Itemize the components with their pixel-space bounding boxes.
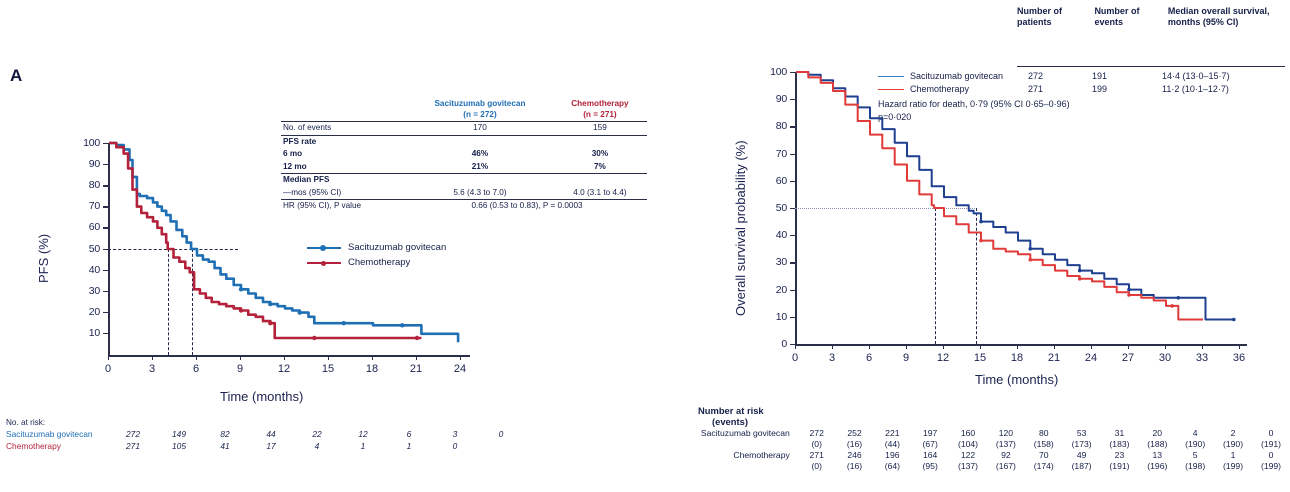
risk-value: 246 [836, 449, 874, 460]
risk-value: 23 [1101, 449, 1139, 460]
risk-events-value: (0) [798, 438, 836, 449]
risk-title-line2-b: (events) [712, 416, 1290, 427]
censor-marker [312, 336, 316, 340]
risk-events-value: (191) [1101, 460, 1139, 471]
legend-swatch-chemotherapy-icon [307, 262, 341, 264]
risk-events-value: (16) [836, 460, 874, 471]
censor-marker [1127, 288, 1131, 292]
risk-events-value: (158) [1025, 438, 1063, 449]
x-tick-label: 27 [1113, 352, 1143, 364]
y-tick-label: 70 [761, 148, 787, 160]
risk-value: 0 [432, 440, 478, 452]
x-tick-label: 12 [269, 363, 299, 375]
risk-value: 0 [478, 428, 524, 440]
stats-col1-n: (n = 272) [463, 110, 496, 119]
risk-value: 1 [386, 440, 432, 452]
risk-events-value: (188) [1138, 438, 1176, 449]
risk-value: 272 [110, 428, 156, 440]
risk-events-value: (44) [873, 438, 911, 449]
risk-events-value: (0) [798, 460, 836, 471]
risk-events-value: (104) [949, 438, 987, 449]
risk-value: 271 [798, 449, 836, 460]
risk-value: 0 [1252, 449, 1290, 460]
risk-value: 12 [340, 428, 386, 440]
x-tick-label: 24 [445, 363, 475, 375]
risk-value: 4 [1176, 427, 1214, 438]
censor-marker [1170, 304, 1174, 308]
y-tick-label: 10 [761, 311, 787, 323]
risk-events-value: (198) [1176, 460, 1214, 471]
panel-a-legend: Sacituzumab govitecan Chemotherapy [307, 240, 446, 270]
y-tick-label: 100 [74, 137, 100, 149]
x-tick-label: 18 [357, 363, 387, 375]
risk-value: 17 [248, 440, 294, 452]
legend-item-chemotherapy-a: Chemotherapy [307, 255, 446, 270]
risk-row: Chemotherapy2712461961641229270492313510 [672, 449, 1290, 460]
legend-swatch-sacituzumab-icon [307, 247, 341, 249]
legend-label-sacituzumab-a: Sacituzumab govitecan [348, 242, 446, 253]
risk-value: 1 [340, 440, 386, 452]
y-tick-label: 30 [761, 256, 787, 268]
risk-value: 5 [1176, 449, 1214, 460]
censor-marker [1029, 258, 1033, 262]
risk-row-label: Chemotherapy [672, 449, 798, 460]
y-tick-label: 60 [761, 175, 787, 187]
censor-marker [415, 336, 419, 340]
censor-marker [979, 220, 983, 224]
risk-row-label: Chemotherapy [6, 440, 110, 452]
risk-events-value: (196) [1138, 460, 1176, 471]
panel-a-risk-table: No. at risk: Sacituzumab govitecan272149… [6, 428, 526, 452]
y-tick-label: 90 [761, 93, 787, 105]
stats-header-median: Median overall survival, months (95% CI) [1168, 6, 1285, 28]
risk-value: 252 [836, 427, 874, 438]
risk-events-value: (190) [1214, 438, 1252, 449]
risk-value: 92 [987, 449, 1025, 460]
risk-row: Sacituzumab govitecan27214982442212630 [6, 428, 524, 440]
y-axis-title-b: Overall survival probability (%) [733, 140, 748, 316]
risk-value: 53 [1063, 427, 1101, 438]
x-tick-label: 6 [854, 352, 884, 364]
risk-events-value: (95) [911, 460, 949, 471]
y-tick-label: 80 [761, 120, 787, 132]
censor-marker [239, 287, 243, 291]
censor-marker [1078, 269, 1082, 273]
risk-row-label: Sacituzumab govitecan [6, 428, 110, 440]
x-tick-label: 30 [1150, 352, 1180, 364]
risk-row-label: Sacituzumab govitecan [672, 427, 798, 438]
risk-value: 271 [110, 440, 156, 452]
censor-marker [400, 323, 404, 327]
risk-value: 164 [911, 449, 949, 460]
x-tick-label: 0 [93, 363, 123, 375]
stats-header-events: Number of events [1094, 6, 1161, 28]
y-tick-label: 70 [74, 200, 100, 212]
risk-value: 160 [949, 427, 987, 438]
risk-row: Sacituzumab govitecan2722522211971601208… [672, 427, 1290, 438]
x-tick-label: 12 [928, 352, 958, 364]
risk-events-value: (173) [1063, 438, 1101, 449]
risk-events-value: (174) [1025, 460, 1063, 471]
risk-value: 1 [1214, 449, 1252, 460]
risk-value: 4 [294, 440, 340, 452]
y-tick-label: 100 [761, 66, 787, 78]
risk-events-value: (137) [949, 460, 987, 471]
risk-events-value: (190) [1176, 438, 1214, 449]
x-tick-label: 3 [137, 363, 167, 375]
x-tick-label: 3 [817, 352, 847, 364]
x-tick-label: 15 [965, 352, 995, 364]
risk-events-row: (0)(16)(64)(95)(137)(167)(174)(187)(191)… [672, 460, 1290, 471]
risk-value: 221 [873, 427, 911, 438]
censor-marker [1127, 293, 1131, 297]
risk-title-line1-b: Number at risk [698, 405, 1290, 416]
risk-value: 105 [156, 440, 202, 452]
risk-events-value: (191) [1252, 438, 1290, 449]
x-tick-label: 24 [1076, 352, 1106, 364]
risk-value: 82 [202, 428, 248, 440]
risk-events-label [672, 460, 798, 471]
risk-value: 149 [156, 428, 202, 440]
censor-marker [979, 239, 983, 243]
censor-marker [268, 302, 272, 306]
censor-marker [298, 310, 302, 314]
survival-curve [796, 72, 1203, 320]
risk-value: 80 [1025, 427, 1063, 438]
stats-col2-name: Chemotherapy [571, 99, 628, 108]
x-axis-title-b: Time (months) [975, 372, 1058, 387]
risk-value: 13 [1138, 449, 1176, 460]
x-tick-label: 36 [1224, 352, 1254, 364]
risk-value: 31 [1101, 427, 1139, 438]
panel-a-progression-free-survival: A Sacituzumab govitecan(n = 272) Chemoth… [0, 0, 660, 492]
risk-value: 22 [294, 428, 340, 440]
risk-value: 3 [432, 428, 478, 440]
y-tick-label: 30 [74, 285, 100, 297]
y-tick-label: 50 [74, 243, 100, 255]
censor-marker [239, 308, 243, 312]
risk-events-value: (187) [1063, 460, 1101, 471]
risk-value: 197 [911, 427, 949, 438]
risk-value: 196 [873, 449, 911, 460]
y-tick-label: 40 [74, 264, 100, 276]
risk-events-value: (183) [1101, 438, 1139, 449]
risk-caption-a: No. at risk: [6, 418, 45, 427]
x-axis-title-a: Time (months) [220, 389, 303, 404]
x-tick-label: 33 [1187, 352, 1217, 364]
risk-events-value: (67) [911, 438, 949, 449]
survival-curve [796, 72, 1234, 320]
y-tick-label: 0 [761, 338, 787, 350]
legend-item-sacituzumab-a: Sacituzumab govitecan [307, 240, 446, 255]
x-tick-label: 9 [225, 363, 255, 375]
risk-value [478, 440, 524, 452]
y-axis-title-a: PFS (%) [36, 234, 51, 283]
risk-value: 122 [949, 449, 987, 460]
risk-events-row: (0)(16)(44)(67)(104)(137)(158)(173)(183)… [672, 438, 1290, 449]
risk-events-value: (167) [987, 460, 1025, 471]
censor-marker [1177, 296, 1181, 300]
risk-events-value: (16) [836, 438, 874, 449]
x-tick-label: 6 [181, 363, 211, 375]
stats-col2-n: (n = 271) [583, 110, 616, 119]
risk-value: 41 [202, 440, 248, 452]
censor-marker [342, 321, 346, 325]
censor-marker [1029, 247, 1033, 251]
risk-value: 0 [1252, 427, 1290, 438]
y-tick-label: 60 [74, 221, 100, 233]
panel-b-plot: 1009080706050403020100 03691215182124273… [795, 72, 1255, 350]
legend-label-chemotherapy-a: Chemotherapy [348, 257, 410, 268]
stats-header-rule-b [1017, 66, 1285, 67]
panel-b-risk-table: Number at risk (events) Sacituzumab govi… [672, 405, 1290, 471]
x-tick-label: 18 [1002, 352, 1032, 364]
y-tick-label: 10 [74, 327, 100, 339]
stats-header-patients: Number of patients [1017, 6, 1088, 28]
risk-value: 2 [1214, 427, 1252, 438]
y-tick-label: 20 [74, 306, 100, 318]
risk-value: 70 [1025, 449, 1063, 460]
risk-value: 120 [987, 427, 1025, 438]
y-tick-label: 20 [761, 284, 787, 296]
risk-events-value: (199) [1214, 460, 1252, 471]
risk-value: 20 [1138, 427, 1176, 438]
x-tick-label: 15 [313, 363, 343, 375]
y-tick-label: 40 [761, 229, 787, 241]
risk-row: Chemotherapy27110541174110 [6, 440, 524, 452]
y-tick-label: 80 [74, 179, 100, 191]
risk-value: 44 [248, 428, 294, 440]
risk-events-value: (199) [1252, 460, 1290, 471]
x-tick-label: 9 [891, 352, 921, 364]
risk-value: 6 [386, 428, 432, 440]
censor-marker [268, 321, 272, 325]
censor-marker [1232, 318, 1236, 322]
y-tick-label: 50 [761, 202, 787, 214]
risk-events-value: (64) [873, 460, 911, 471]
panel-b-curves [795, 72, 1251, 346]
stats-row-events: No. of events 170 159 [281, 122, 647, 136]
x-tick-label: 0 [780, 352, 810, 364]
risk-value: 272 [798, 427, 836, 438]
risk-events-value: (137) [987, 438, 1025, 449]
censor-marker [1078, 277, 1082, 281]
risk-events-label [672, 438, 798, 449]
risk-value: 49 [1063, 449, 1101, 460]
y-tick-label: 90 [74, 158, 100, 170]
x-tick-label: 21 [401, 363, 431, 375]
stats-col1-name: Sacituzumab govitecan [434, 99, 525, 108]
x-tick-label: 21 [1039, 352, 1069, 364]
panel-b-stats-header: Number of patients Number of events Medi… [1017, 6, 1285, 28]
panel-letter-a: A [10, 66, 22, 86]
